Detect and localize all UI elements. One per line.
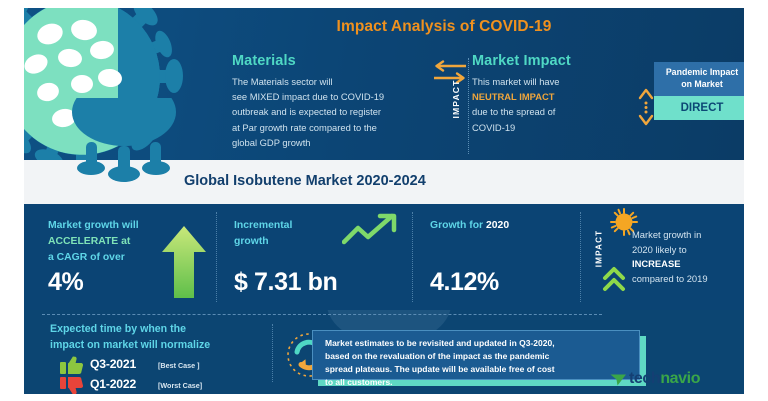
market-impact-line-1: This market will have	[472, 74, 642, 89]
growth2020-lead: Growth for 2020	[430, 218, 570, 234]
growth2020-lead-line-1: Growth for	[430, 220, 483, 231]
impact-panel-text: Market growth in 2020 likely to INCREASE…	[632, 228, 744, 287]
best-case-tag: [Best Case ]	[158, 361, 200, 370]
best-case-row: Q3-2021 [Best Case ]	[60, 356, 290, 376]
incremental-value: $ 7.31 bn	[234, 268, 337, 297]
infographic-poster: Impact Analysis of COVID-19 Materials Th…	[24, 8, 744, 394]
expected-title-line-1: Expected time by when the	[50, 322, 294, 338]
header-dotted-divider	[468, 58, 469, 154]
callout-line-3: spread plateaus. The update will be avai…	[325, 363, 630, 376]
cagr-lead-line-3: a CAGR of over	[48, 250, 166, 266]
double-chevron-up-icon	[602, 262, 626, 294]
pandemic-impact-label: Pandemic Impact on Market	[654, 62, 744, 96]
impact-text-line-1: Market growth in	[632, 228, 744, 243]
market-impact-highlight: NEUTRAL IMPACT	[472, 89, 642, 104]
market-impact-line-3: COVID-19	[472, 120, 642, 135]
worst-case-quarter: Q1-2022	[90, 377, 136, 391]
expected-time-title: Expected time by when the impact on mark…	[50, 322, 294, 354]
impact-panel: IMPACT Market growth in 2020 likely to I…	[584, 204, 744, 310]
stats-divider-1	[216, 212, 217, 302]
cagr-lead-line-1: Market growth will	[48, 218, 166, 234]
up-down-arrows-icon	[636, 86, 656, 128]
worst-case-row: Q1-2022 [Worst Case]	[60, 376, 290, 394]
bidirectional-arrows-icon	[430, 60, 470, 86]
incremental-lead: Incremental growth	[234, 218, 344, 250]
trend-up-icon	[342, 212, 402, 248]
pandemic-impact-box: Pandemic Impact on Market DIRECT	[654, 62, 744, 120]
up-arrow-icon	[162, 226, 206, 298]
best-case-quarter: Q3-2021	[90, 357, 136, 371]
incremental-lead-line-1: Incremental	[234, 218, 344, 234]
thumbs-down-icon	[60, 376, 84, 394]
logo-text-navio: navio	[660, 370, 700, 387]
technavio-logo: technavio	[610, 370, 750, 396]
materials-line-2: see MIXED impact due to COVID-19	[232, 89, 422, 104]
technavio-wordmark: technavio	[629, 370, 700, 388]
pandemic-label-line-1: Pandemic Impact	[658, 67, 744, 79]
impact-text-line-3: compared to 2019	[632, 272, 744, 287]
callout-line-1: Market estimates to be revisited and upd…	[325, 337, 630, 350]
coronavirus-legs-icon	[72, 98, 176, 202]
technavio-arrow-icon	[610, 373, 627, 387]
stats-divider-2	[412, 212, 413, 302]
materials-line-3: outbreak and is expected to register	[232, 104, 422, 119]
update-callout: Market estimates to be revisited and upd…	[312, 330, 640, 380]
expected-title-line-2: impact on market will normalize	[50, 338, 294, 354]
logo-text-tech: tech	[629, 370, 660, 387]
title-band: Global Isobutene Market 2020-2024	[24, 160, 744, 204]
impact-text-line-2: 2020 likely to	[632, 243, 744, 258]
report-title: Global Isobutene Market 2020-2024	[184, 173, 426, 189]
thumbs-up-icon	[60, 356, 84, 375]
page-title: Impact Analysis of COVID-19	[314, 18, 574, 36]
worst-case-tag: [Worst Case]	[158, 381, 202, 390]
incremental-lead-line-2: growth	[234, 234, 344, 250]
market-impact-line-2: due to the spread of	[472, 104, 642, 119]
materials-line-1: The Materials sector will	[232, 74, 422, 89]
stats-divider-3	[580, 212, 581, 302]
bottom-dashed-rule	[42, 314, 602, 315]
market-impact-heading: Market Impact	[472, 53, 642, 69]
bottom-dotted-divider	[272, 324, 273, 382]
market-impact-column: Market Impact This market will have NEUT…	[472, 53, 642, 135]
stat-card-growth2020: Growth for 2020 4.12%	[416, 204, 578, 310]
cagr-lead: Market growth will ACCELERATE at a CAGR …	[48, 218, 166, 265]
materials-body: The Materials sector will see MIXED impa…	[232, 74, 422, 150]
cagr-value: 4%	[48, 268, 83, 297]
materials-column: Materials The Materials sector will see …	[232, 53, 422, 150]
cagr-lead-line-2: ACCELERATE at	[48, 234, 166, 250]
callout-line-4: to all customers.	[325, 376, 630, 389]
stat-card-incremental: Incremental growth $ 7.31 bn	[220, 204, 410, 310]
pandemic-label-line-2: on Market	[658, 79, 744, 91]
growth2020-value: 4.12%	[430, 268, 499, 297]
materials-line-4: at Par growth rate compared to the	[232, 120, 422, 135]
stat-card-cagr: Market growth will ACCELERATE at a CAGR …	[34, 204, 214, 310]
impact-divider-header: IMPACT	[428, 60, 472, 152]
stats-row: Market growth will ACCELERATE at a CAGR …	[24, 204, 744, 310]
impact-text-highlight: INCREASE	[632, 257, 744, 272]
callout-line-2: based on the revaluation of the impact a…	[325, 350, 630, 363]
growth2020-lead-line-2: 2020	[486, 220, 509, 231]
pandemic-impact-value: DIRECT	[654, 96, 744, 120]
materials-heading: Materials	[232, 53, 422, 69]
impact-label-header: IMPACT	[451, 69, 461, 129]
materials-line-5: global GDP growth	[232, 135, 422, 150]
market-impact-body: This market will have NEUTRAL IMPACT due…	[472, 74, 642, 135]
